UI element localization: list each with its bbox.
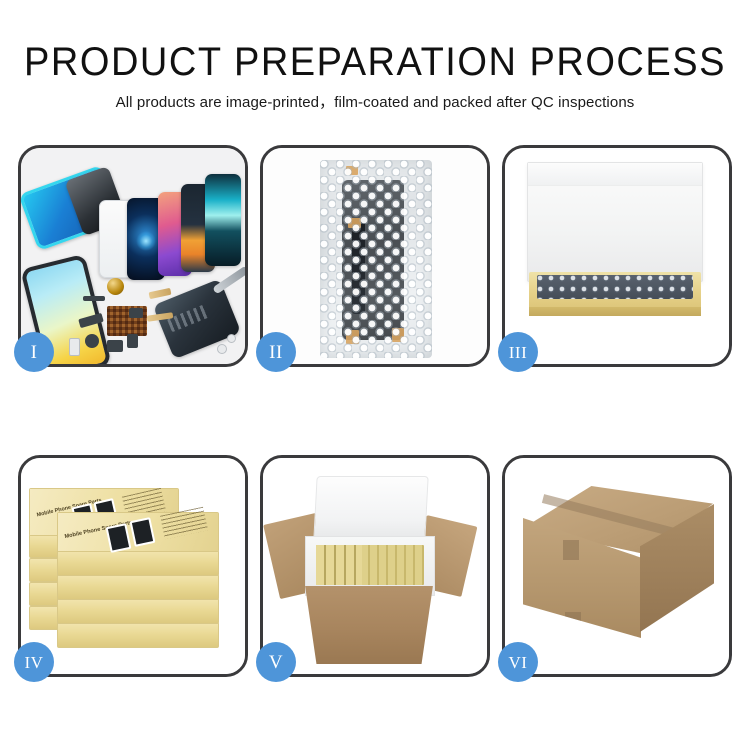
product-preparation-infographic: PRODUCT PREPARATION PROCESS All products… bbox=[0, 0, 750, 750]
kraft-inner-box bbox=[529, 272, 701, 316]
step-5-image bbox=[263, 458, 487, 674]
carton-tape-tab-upper bbox=[563, 540, 579, 560]
step-panel-1: I bbox=[18, 145, 248, 367]
flex-cable-part-a bbox=[149, 288, 172, 299]
speaker-module-part bbox=[107, 278, 124, 295]
page-title: PRODUCT PREPARATION PROCESS bbox=[19, 0, 732, 84]
step-badge-6: VI bbox=[498, 642, 538, 682]
step-panel-2: II bbox=[260, 145, 490, 367]
small-part-c bbox=[107, 340, 123, 352]
step-2-image bbox=[263, 148, 487, 364]
header: PRODUCT PREPARATION PROCESS All products… bbox=[0, 0, 750, 113]
step-badge-5: V bbox=[256, 642, 296, 682]
sealed-carton-scene bbox=[505, 458, 729, 674]
teal-wave-screen bbox=[205, 174, 241, 266]
step-badge-2: II bbox=[256, 332, 296, 372]
retail-box-front-4 bbox=[57, 598, 219, 624]
step-badge-3: III bbox=[498, 332, 538, 372]
retail-box-front-2 bbox=[57, 550, 219, 576]
step-4-image: Mobile Phone Spare Parts bbox=[21, 458, 245, 674]
small-part-e bbox=[129, 308, 143, 318]
retail-box-stack: Mobile Phone Spare Parts bbox=[29, 474, 241, 664]
sim-tray-part bbox=[69, 338, 80, 356]
step-6-image bbox=[505, 458, 729, 674]
camera-module-part bbox=[85, 334, 99, 348]
label-phone-graphic-d bbox=[130, 517, 156, 547]
open-carton-body bbox=[298, 586, 440, 664]
retail-box-front-top: Mobile Phone Spare Parts bbox=[57, 512, 219, 552]
step-1-image bbox=[21, 148, 245, 364]
step-panel-6: VI bbox=[502, 455, 732, 677]
carton-tape-tab-lower bbox=[565, 612, 581, 632]
page-subtitle: All products are image-printed，film-coat… bbox=[4, 84, 747, 113]
screw-part-b bbox=[227, 334, 236, 343]
process-steps-grid: I II bbox=[18, 145, 732, 730]
small-part-a bbox=[83, 296, 105, 301]
retail-box-front-top-face: Mobile Phone Spare Parts bbox=[58, 513, 218, 551]
screw-part-a bbox=[217, 344, 227, 354]
small-part-d bbox=[127, 334, 138, 348]
bubble-wrap-bag bbox=[320, 160, 432, 358]
retail-box-front-5 bbox=[57, 622, 219, 648]
white-foam-lid bbox=[527, 162, 703, 282]
bubble-wrap-scene bbox=[263, 148, 487, 364]
box-stack-scene: Mobile Phone Spare Parts bbox=[21, 458, 245, 674]
step-panel-3: III bbox=[502, 145, 732, 367]
foam-cooler-lid bbox=[313, 476, 428, 540]
inner-box-scene bbox=[505, 148, 729, 364]
label-text-block-front bbox=[160, 507, 208, 540]
retail-box-front-3 bbox=[57, 574, 219, 600]
label-phone-graphic-c bbox=[106, 523, 132, 553]
packed-yellow-boxes-side bbox=[316, 545, 362, 585]
step-badge-1: I bbox=[14, 332, 54, 372]
bubble-texture bbox=[320, 160, 432, 358]
step-panel-4: Mobile Phone Spare Parts bbox=[18, 455, 248, 677]
phone-parts-scene bbox=[21, 148, 245, 364]
foam-carton-scene bbox=[263, 458, 487, 674]
step-panel-5: V bbox=[260, 455, 490, 677]
step-badge-4: IV bbox=[14, 642, 54, 682]
step-3-image bbox=[505, 148, 729, 364]
bubble-wrapped-contents bbox=[537, 275, 693, 299]
